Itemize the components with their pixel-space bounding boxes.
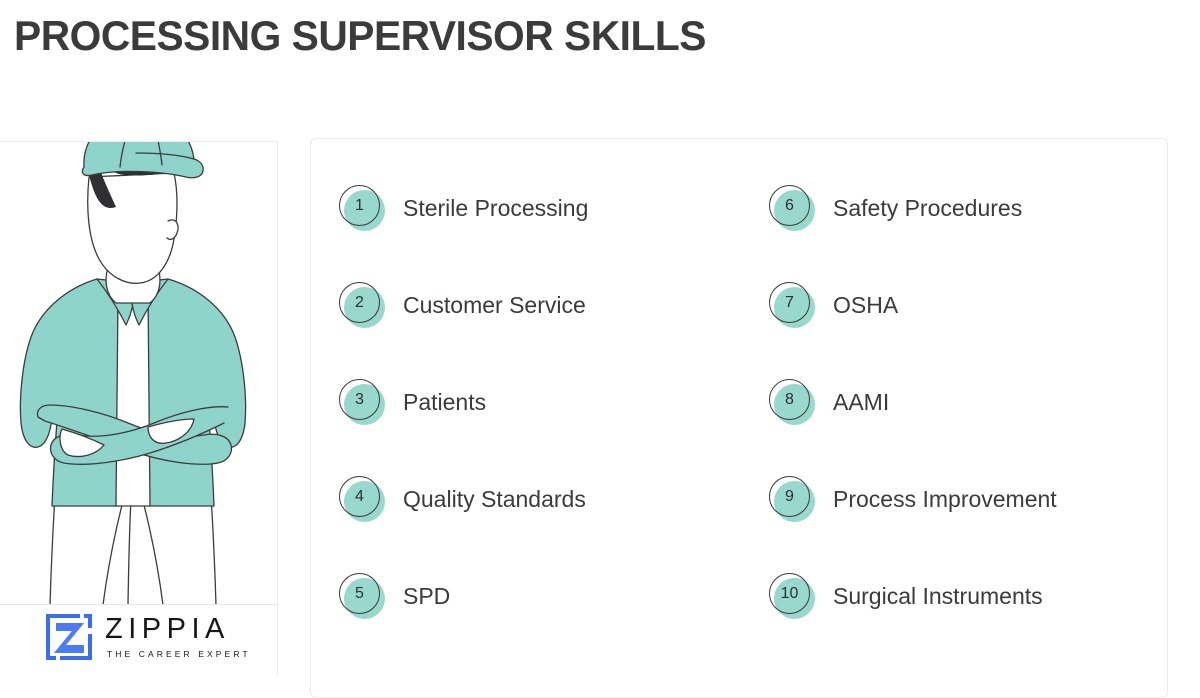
skill-item-2: 2 Customer Service: [339, 278, 769, 332]
logo-divider: [0, 604, 278, 605]
skill-label: Quality Standards: [403, 486, 586, 513]
skill-item-7: 7 OSHA: [769, 278, 1157, 332]
skill-label: AAMI: [833, 389, 889, 416]
badge-number: 5: [339, 573, 380, 614]
skills-grid: 1 Sterile Processing 6 Safety Procedures…: [339, 181, 1157, 666]
skill-label: SPD: [403, 583, 450, 610]
skill-number-badge: 6: [769, 185, 815, 231]
skill-label: Surgical Instruments: [833, 583, 1043, 610]
skill-label: Customer Service: [403, 292, 586, 319]
skill-number-badge: 7: [769, 282, 815, 328]
skill-label: OSHA: [833, 292, 898, 319]
skill-number-badge: 5: [339, 573, 385, 619]
badge-number: 7: [769, 282, 810, 323]
skill-item-5: 5 SPD: [339, 569, 769, 623]
page-title: PROCESSING SUPERVISOR SKILLS: [14, 12, 706, 60]
skill-item-4: 4 Quality Standards: [339, 472, 769, 526]
skill-number-badge: 2: [339, 282, 385, 328]
skill-number-badge: 1: [339, 185, 385, 231]
skill-item-6: 6 Safety Procedures: [769, 181, 1157, 235]
zippia-wordmark: ZIPPIA: [105, 615, 251, 644]
zippia-tagline: THE CAREER EXPERT: [107, 649, 251, 659]
badge-number: 8: [769, 379, 810, 420]
skill-item-1: 1 Sterile Processing: [339, 181, 769, 235]
skill-label: Safety Procedures: [833, 195, 1022, 222]
badge-number: 10: [769, 573, 810, 614]
skill-number-badge: 3: [339, 379, 385, 425]
badge-number: 1: [339, 185, 380, 226]
skill-number-badge: 4: [339, 476, 385, 522]
skill-item-9: 9 Process Improvement: [769, 472, 1157, 526]
skill-label: Process Improvement: [833, 486, 1057, 513]
badge-number: 3: [339, 379, 380, 420]
skill-item-8: 8 AAMI: [769, 375, 1157, 429]
skills-panel: 1 Sterile Processing 6 Safety Procedures…: [310, 138, 1168, 698]
skill-number-badge: 9: [769, 476, 815, 522]
skill-number-badge: 10: [769, 573, 815, 619]
supervisor-illustration: [0, 141, 278, 605]
zippia-z-icon: [44, 612, 94, 662]
badge-number: 2: [339, 282, 380, 323]
skill-item-10: 10 Surgical Instruments: [769, 569, 1157, 623]
illustration-card: [0, 141, 278, 675]
skill-label: Sterile Processing: [403, 195, 588, 222]
badge-number: 4: [339, 476, 380, 517]
skill-item-3: 3 Patients: [339, 375, 769, 429]
skill-number-badge: 8: [769, 379, 815, 425]
badge-number: 6: [769, 185, 810, 226]
zippia-logo[interactable]: ZIPPIA THE CAREER EXPERT: [44, 612, 251, 662]
badge-number: 9: [769, 476, 810, 517]
skill-label: Patients: [403, 389, 486, 416]
